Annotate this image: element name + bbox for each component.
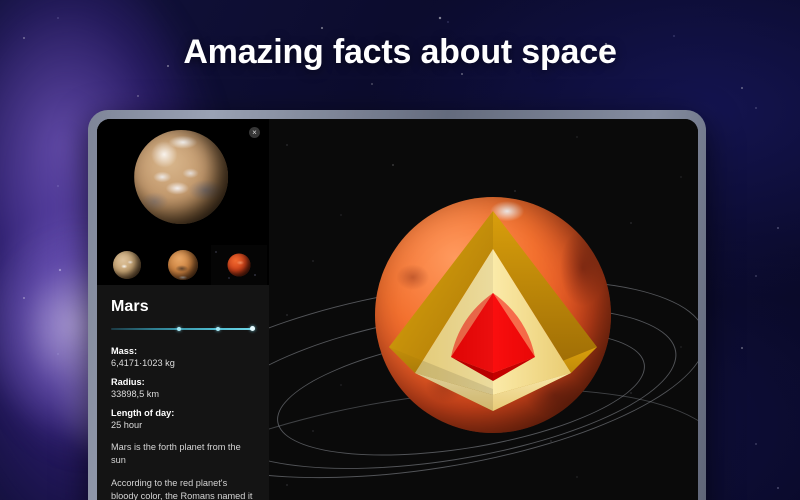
fact-label: Mass:	[111, 346, 255, 356]
fact-value: 6,4171·1023 kg	[111, 358, 255, 368]
fact-radius: Radius: 33898,5 km	[111, 377, 255, 399]
slider-marker-2[interactable]	[216, 327, 220, 331]
tablet-screen: × Mars	[97, 119, 698, 500]
slider-handle[interactable]	[250, 326, 255, 331]
thumbnail-strip	[97, 245, 269, 285]
layer-depth-slider[interactable]	[111, 325, 255, 333]
fact-mass: Mass: 6,4171·1023 kg	[111, 346, 255, 368]
tablet-device-frame: × Mars	[88, 110, 706, 500]
fact-label: Radius:	[111, 377, 255, 387]
cutaway-wedge	[375, 197, 611, 433]
thumbnail-image	[168, 250, 198, 280]
description-paragraph-1: Mars is the forth planet from the sun	[111, 441, 255, 466]
planet-viewport[interactable]	[269, 119, 698, 500]
planet-name: Mars	[111, 298, 255, 316]
fact-value: 25 hour	[111, 420, 255, 430]
close-icon[interactable]: ×	[249, 127, 260, 138]
slider-marker-1[interactable]	[177, 327, 181, 331]
fact-label: Length of day:	[111, 408, 255, 418]
hero-image-container: ×	[97, 119, 269, 245]
fact-value: 33898,5 km	[111, 389, 255, 399]
thumbnail-image	[113, 251, 141, 279]
planet-info-panel: Mars Mass: 6,4171·1023 kg Radius: 33898,…	[97, 285, 269, 500]
thumbnail-mars-surface[interactable]	[99, 245, 155, 285]
mars-interior-cutaway[interactable]	[375, 197, 611, 433]
thumbnail-mars-telescope[interactable]	[155, 245, 211, 285]
sidebar-panel: × Mars	[97, 119, 269, 500]
thumbnail-mars-red[interactable]	[211, 245, 267, 285]
thumbnail-image	[228, 254, 251, 277]
page-title: Amazing facts about space	[0, 33, 800, 72]
hero-mars-image	[134, 130, 228, 224]
description-paragraph-2: According to the red planet's bloody col…	[111, 477, 255, 500]
fact-length-of-day: Length of day: 25 hour	[111, 408, 255, 430]
slider-track	[111, 328, 255, 330]
